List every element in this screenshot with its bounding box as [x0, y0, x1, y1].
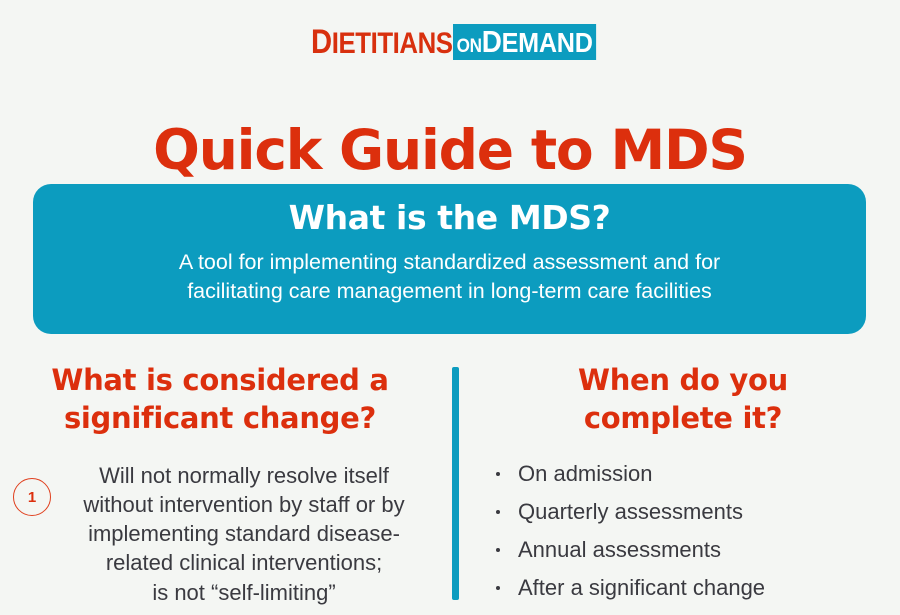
infographic-page: DIETITIANSONDEMAND Quick Guide to MDS Wh… [0, 0, 900, 600]
left-column-significant-change: What is considered a significant change?… [0, 362, 440, 607]
left-column-heading: What is considered a significant change? [0, 362, 440, 437]
banner-body-line-2: facilitating care management in long-ter… [63, 277, 836, 306]
list-item: On admission [490, 463, 900, 485]
mds-definition-banner: What is the MDS? A tool for implementing… [33, 184, 866, 334]
list-item: Annual assessments [490, 539, 900, 561]
column-divider [452, 367, 459, 600]
logo-dietitians-text: DIETITIANS [311, 25, 453, 59]
banner-body-line-1: A tool for implementing standardized ass… [63, 248, 836, 277]
logo-on-text: ON [456, 36, 481, 57]
banner-heading: What is the MDS? [63, 198, 836, 238]
page-title: Quick Guide to MDS [0, 122, 900, 180]
right-column-heading: When do you complete it? [466, 362, 900, 437]
numbered-item-line-3: implementing standard disease- [58, 519, 430, 548]
left-column-heading-line-1: What is considered a [24, 362, 416, 400]
numbered-item-line-4: related clinical interventions; [58, 548, 430, 577]
brand-logo: DIETITIANSONDEMAND [0, 24, 900, 60]
numbered-item-line-1: Will not normally resolve itself [58, 461, 430, 490]
list-item: Quarterly assessments [490, 501, 900, 523]
logo-demand-rest: EMAND [501, 27, 592, 58]
completion-bullet-list: On admission Quarterly assessments Annua… [466, 463, 900, 599]
brand-logo-inner: DIETITIANSONDEMAND [288, 24, 612, 60]
logo-dietitians-rest: IETITIANS [332, 27, 453, 60]
right-column-heading-line-1: When do you [490, 362, 876, 400]
logo-ondemand-block: ONDEMAND [453, 24, 596, 60]
numbered-item-text: Will not normally resolve itself without… [0, 461, 440, 606]
numbered-item: 1 Will not normally resolve itself witho… [0, 461, 440, 606]
right-column-heading-line-2: complete it? [490, 400, 876, 438]
numbered-item-line-5: is not “self-limiting” [58, 578, 430, 607]
list-item: After a significant change [490, 577, 900, 599]
right-column-when-complete: When do you complete it? On admission Qu… [466, 362, 900, 615]
logo-dietitians-cap: D [311, 23, 332, 61]
logo-demand-cap: D [481, 24, 501, 59]
left-column-heading-line-2: significant change? [24, 400, 416, 438]
numbered-item-line-2: without intervention by staff or by [58, 490, 430, 519]
banner-body: A tool for implementing standardized ass… [63, 248, 836, 306]
